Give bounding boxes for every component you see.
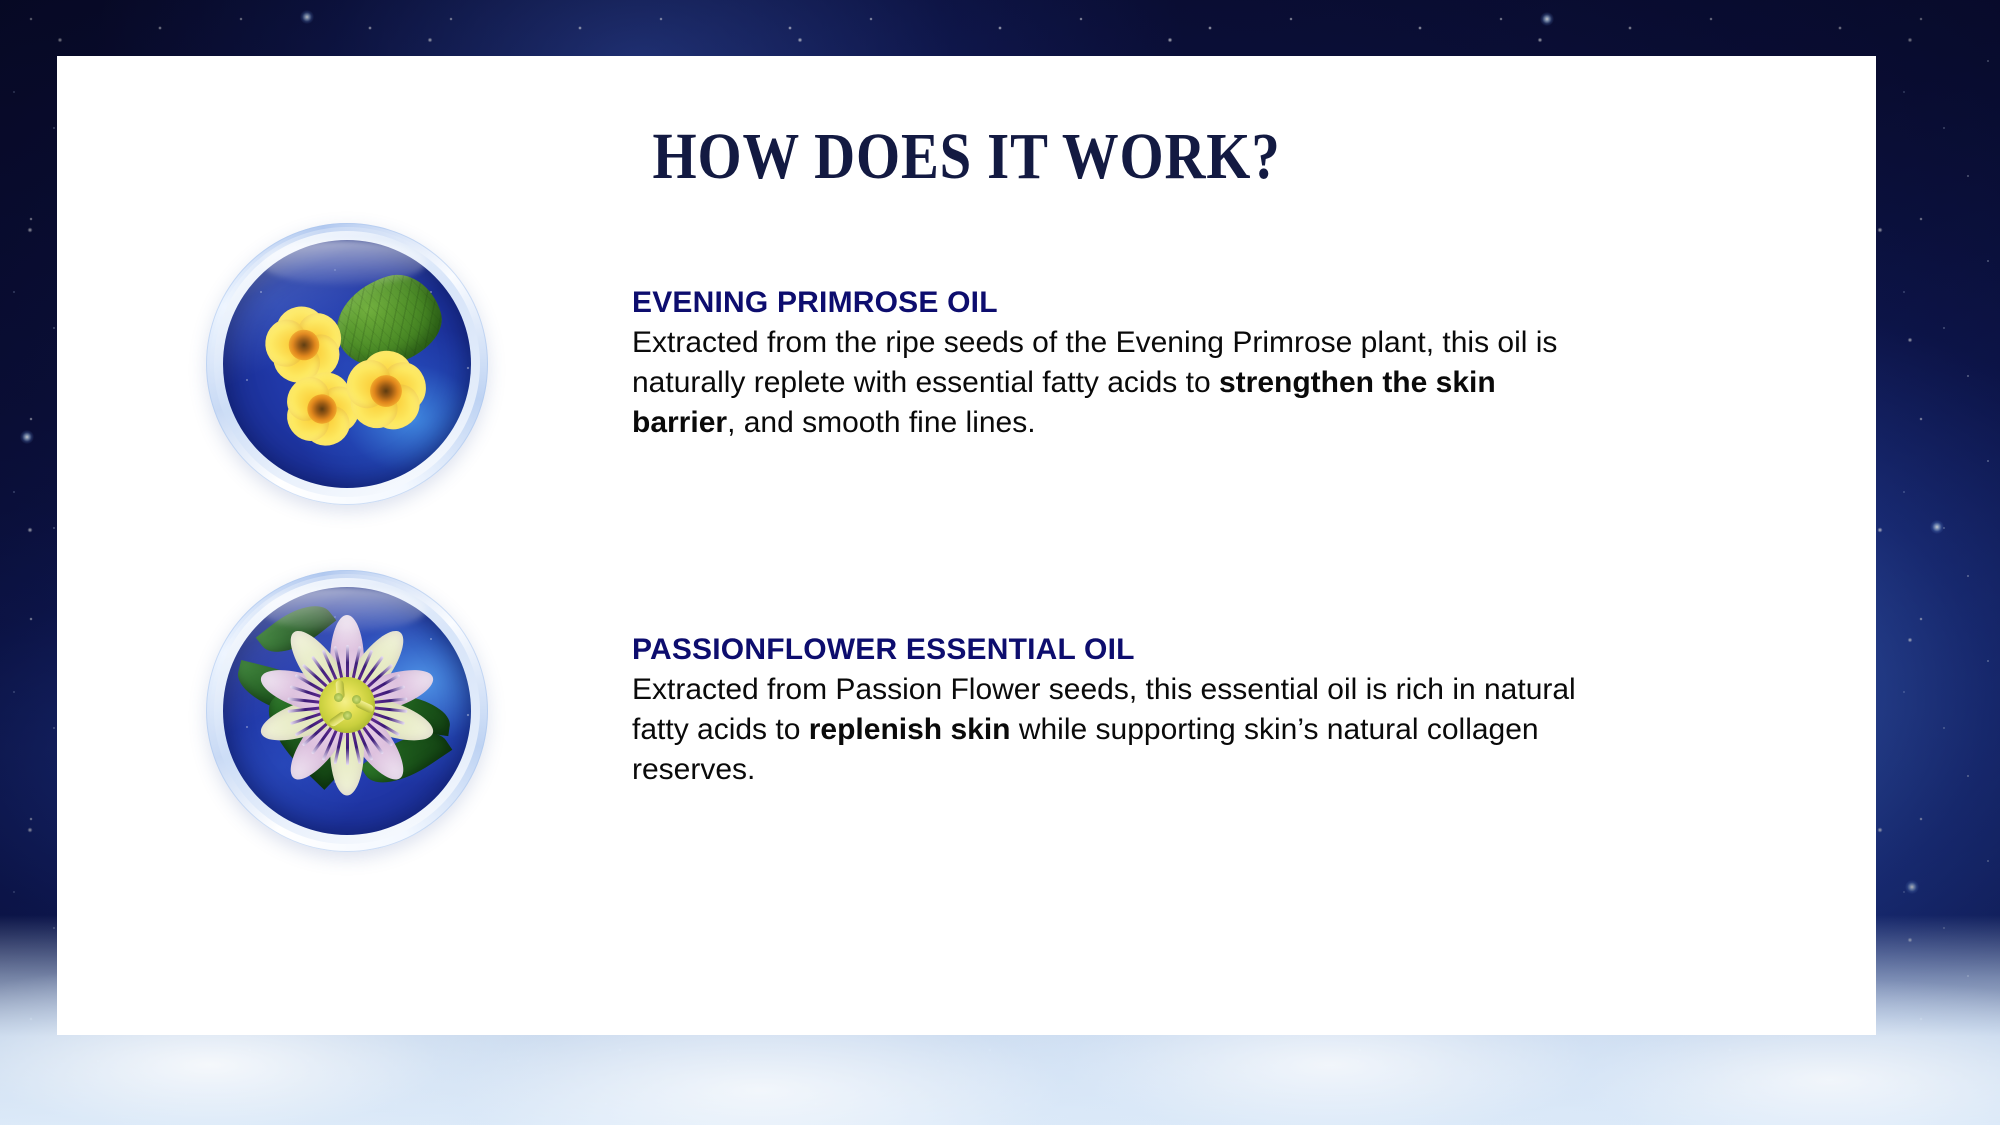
primrose-flower-icon — [333, 338, 439, 444]
petri-dish-evening-primrose-image — [206, 223, 488, 505]
petri-dish-medium — [223, 240, 471, 488]
page-title: HOW DOES IT WORK? — [184, 124, 1748, 190]
petri-dish-medium — [223, 587, 471, 835]
ingredient-heading-evening-primrose: EVENING PRIMROSE OIL — [632, 285, 1807, 322]
dish-column — [177, 223, 517, 505]
ingredient-description-passionflower: Extracted from Passion Flower seeds, thi… — [632, 670, 1607, 790]
text-column: PASSIONFLOWER ESSENTIAL OIL Extracted fr… — [517, 632, 1837, 790]
description-text-part-2: , and smooth fine lines. — [727, 406, 1036, 439]
description-emphasis: replenish skin — [809, 713, 1011, 746]
passionflower-flora-group — [223, 587, 471, 835]
text-column: EVENING PRIMROSE OIL Extracted from the … — [517, 285, 1837, 443]
ingredient-row-evening-primrose: EVENING PRIMROSE OIL Extracted from the … — [177, 204, 1837, 524]
dish-column — [177, 570, 517, 852]
ingredient-heading-passionflower: PASSIONFLOWER ESSENTIAL OIL — [632, 632, 1807, 669]
petri-dish-passionflower-image — [206, 570, 488, 852]
primrose-flora-group — [223, 240, 471, 488]
ingredient-row-passionflower: PASSIONFLOWER ESSENTIAL OIL Extracted fr… — [177, 546, 1837, 876]
ingredient-description-evening-primrose: Extracted from the ripe seeds of the Eve… — [632, 323, 1607, 443]
content-card: HOW DOES IT WORK? — [57, 56, 1876, 1035]
